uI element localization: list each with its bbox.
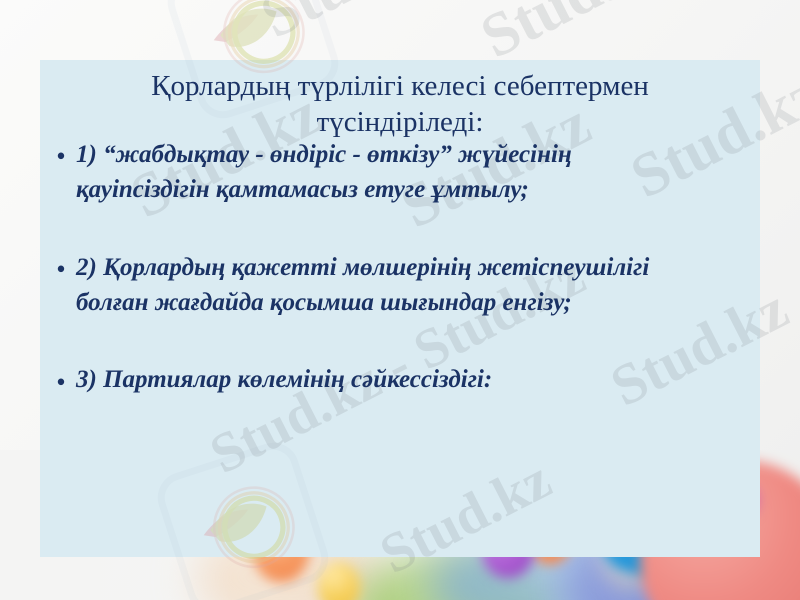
watermark-logo-icon (151, 436, 335, 557)
bullet-text-2: 2) Қорлардың қажетті мөлшерінің жетіспеу… (76, 251, 746, 320)
yellow-bubble (318, 562, 360, 600)
presentation-slide: Stud.kzStud.kzStud.kzStud.kzStud.kzStud.… (0, 0, 800, 600)
list-item: • 3) Партиялар көлемінің сәйкессіздігі: (46, 364, 746, 400)
list-item: • 2) Қорлардың қажетті мөлшерінің жетісп… (46, 251, 746, 320)
bullet-text-1: 1) “жабдықтау - өндіріс - өткізу” жүйесі… (76, 138, 746, 207)
slide-title: Қорлардың түрлілігі келесі себептермен т… (88, 68, 712, 141)
bullet-dot-icon: • (46, 364, 76, 400)
watermark-text: Stud.kz (250, 0, 462, 53)
list-item: • 1) “жабдықтау - өндіріс - өткізу” жүйе… (46, 138, 746, 207)
bullet-text-3: 3) Партиялар көлемінің сәйкессіздігі: (76, 364, 746, 397)
bullet-list: • 1) “жабдықтау - өндіріс - өткізу” жүйе… (46, 138, 746, 400)
green-blob (352, 550, 562, 600)
bullet-dot-icon: • (46, 251, 76, 287)
watermark-text: Stud.kz (370, 447, 561, 557)
bullet-dot-icon: • (46, 138, 76, 174)
content-panel: Stud.kzStud.kzStud.kzStud.kzStud.kzStud.… (40, 60, 760, 557)
